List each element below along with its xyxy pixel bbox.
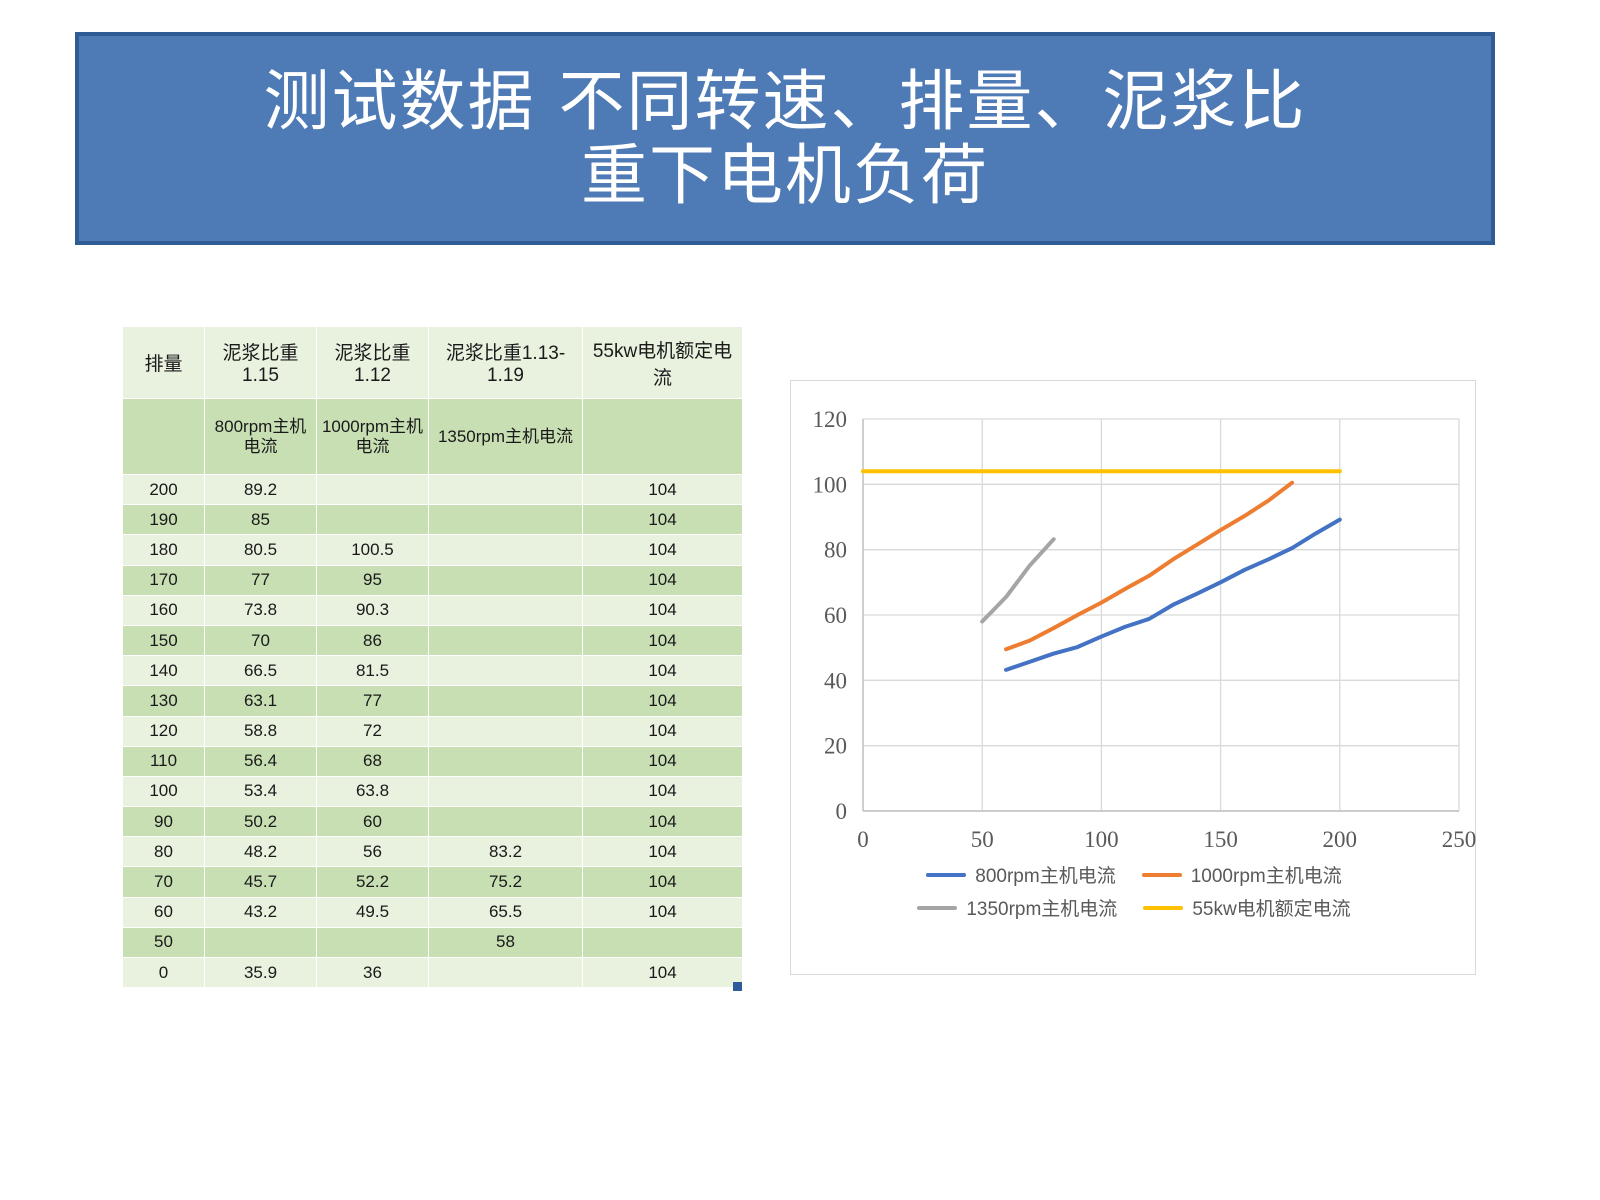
table-cell-r7-c2: 77	[317, 686, 429, 716]
legend-item-1[interactable]: 1000rpm主机电流	[1142, 861, 1342, 888]
table-row: 19085104	[123, 505, 743, 535]
table-header-cell-4: 55kw电机额定电流	[583, 327, 743, 399]
table-cell-r12-c3: 83.2	[429, 837, 583, 867]
table-cell-r1-c1: 85	[205, 505, 317, 535]
table-row: 13063.177104	[123, 686, 743, 716]
table-cell-r14-c1: 43.2	[205, 897, 317, 927]
table-cell-r4-c0: 160	[123, 595, 205, 625]
table-cell-r10-c2: 63.8	[317, 776, 429, 806]
table-subheader-cell-3: 1350rpm主机电流	[429, 399, 583, 475]
table-cell-r13-c1: 45.7	[205, 867, 317, 897]
table-body: 20089.21041908510418080.5100.51041707795…	[123, 475, 743, 988]
table-cell-r0-c4: 104	[583, 475, 743, 505]
table-cell-r4-c3	[429, 595, 583, 625]
table-cell-r3-c1: 77	[205, 565, 317, 595]
table-row: 1707795104	[123, 565, 743, 595]
table-cell-r15-c1	[205, 927, 317, 957]
table-cell-r15-c4	[583, 927, 743, 957]
table-cell-r11-c0: 90	[123, 807, 205, 837]
chart-container[interactable]: 020406080100120050100150200250 800rpm主机电…	[790, 380, 1476, 975]
table-subheader-cell-4	[583, 399, 743, 475]
table-cell-r10-c1: 53.4	[205, 776, 317, 806]
y-axis-tick-label: 40	[824, 668, 847, 693]
table-header-row-primary: 排量泥浆比重1.15泥浆比重1.12泥浆比重1.13-1.1955kw电机额定电…	[123, 327, 743, 399]
table-row: 12058.872104	[123, 716, 743, 746]
table-cell-r16-c0: 0	[123, 958, 205, 988]
table-row: 1507086104	[123, 625, 743, 655]
table-cell-r12-c1: 48.2	[205, 837, 317, 867]
table-cell-r14-c2: 49.5	[317, 897, 429, 927]
table-cell-r2-c1: 80.5	[205, 535, 317, 565]
table-row: 5058	[123, 927, 743, 957]
table-cell-r16-c1: 35.9	[205, 958, 317, 988]
table-row: 8048.25683.2104	[123, 837, 743, 867]
table-cell-r6-c2: 81.5	[317, 656, 429, 686]
table-header-row-secondary: 800rpm主机电流1000rpm主机电流1350rpm主机电流	[123, 399, 743, 475]
table-cell-r6-c0: 140	[123, 656, 205, 686]
table-header-cell-0: 排量	[123, 327, 205, 399]
table-cell-r8-c4: 104	[583, 716, 743, 746]
x-axis-tick-label: 50	[971, 827, 994, 851]
chart-legend: 800rpm主机电流1000rpm主机电流1350rpm主机电流55kw电机额定…	[791, 849, 1477, 921]
table-header-cell-1: 泥浆比重1.15	[205, 327, 317, 399]
legend-swatch-icon	[917, 906, 957, 910]
x-axis-tick-label: 200	[1323, 827, 1358, 851]
table-cell-r10-c0: 100	[123, 776, 205, 806]
table-cell-r2-c2: 100.5	[317, 535, 429, 565]
table-row: 10053.463.8104	[123, 776, 743, 806]
table-header-cell-3: 泥浆比重1.13-1.19	[429, 327, 583, 399]
legend-item-0[interactable]: 800rpm主机电流	[926, 861, 1115, 888]
legend-label: 800rpm主机电流	[975, 861, 1115, 888]
table-cell-r0-c0: 200	[123, 475, 205, 505]
table-cell-r0-c2	[317, 475, 429, 505]
test-data-table: 排量泥浆比重1.15泥浆比重1.12泥浆比重1.13-1.1955kw电机额定电…	[122, 326, 743, 988]
table-subheader-cell-1: 800rpm主机电流	[205, 399, 317, 475]
table-cell-r6-c4: 104	[583, 656, 743, 686]
table-row: 14066.581.5104	[123, 656, 743, 686]
table-cell-r6-c3	[429, 656, 583, 686]
table-cell-r0-c1: 89.2	[205, 475, 317, 505]
table-cell-r13-c2: 52.2	[317, 867, 429, 897]
table-cell-r16-c3	[429, 958, 583, 988]
table-cell-r13-c3: 75.2	[429, 867, 583, 897]
table-cell-r11-c1: 50.2	[205, 807, 317, 837]
table-cell-r1-c4: 104	[583, 505, 743, 535]
table-row: 7045.752.275.2104	[123, 867, 743, 897]
table-cell-r3-c4: 104	[583, 565, 743, 595]
table-cell-r9-c2: 68	[317, 746, 429, 776]
table-cell-r7-c0: 130	[123, 686, 205, 716]
legend-item-2[interactable]: 1350rpm主机电流	[917, 894, 1117, 921]
page-title: 测试数据 不同转速、排量、泥浆比 重下电机负荷	[250, 65, 1321, 213]
table-cell-r3-c3	[429, 565, 583, 595]
table-cell-r7-c3	[429, 686, 583, 716]
slide-title-banner: 测试数据 不同转速、排量、泥浆比 重下电机负荷	[75, 32, 1495, 245]
legend-swatch-icon	[926, 873, 966, 877]
table-cell-r5-c0: 150	[123, 625, 205, 655]
table-cell-r1-c0: 190	[123, 505, 205, 535]
table-cell-r4-c4: 104	[583, 595, 743, 625]
data-table-container: 排量泥浆比重1.15泥浆比重1.12泥浆比重1.13-1.1955kw电机额定电…	[122, 326, 742, 988]
table-cell-r12-c4: 104	[583, 837, 743, 867]
table-cell-r10-c4: 104	[583, 776, 743, 806]
x-axis-tick-label: 0	[857, 827, 869, 851]
table-cell-r11-c3	[429, 807, 583, 837]
table-cell-r8-c3	[429, 716, 583, 746]
table-cell-r10-c3	[429, 776, 583, 806]
table-row: 9050.260104	[123, 807, 743, 837]
table-cell-r9-c4: 104	[583, 746, 743, 776]
x-axis-tick-label: 250	[1442, 827, 1477, 851]
table-cell-r8-c2: 72	[317, 716, 429, 746]
table-cell-r9-c1: 56.4	[205, 746, 317, 776]
table-row: 11056.468104	[123, 746, 743, 776]
table-subheader-cell-0	[123, 399, 205, 475]
table-cell-r8-c0: 120	[123, 716, 205, 746]
table-cell-r13-c0: 70	[123, 867, 205, 897]
legend-row: 1350rpm主机电流55kw电机额定电流	[851, 894, 1417, 921]
table-cell-r4-c2: 90.3	[317, 595, 429, 625]
y-axis-tick-label: 100	[813, 472, 848, 497]
table-cell-r16-c4: 104	[583, 958, 743, 988]
table-cell-r13-c4: 104	[583, 867, 743, 897]
table-cell-r11-c4: 104	[583, 807, 743, 837]
table-cell-r1-c3	[429, 505, 583, 535]
table-cell-r1-c2	[317, 505, 429, 535]
table-cell-r2-c4: 104	[583, 535, 743, 565]
table-cell-r15-c3: 58	[429, 927, 583, 957]
x-axis-tick-label: 100	[1084, 827, 1119, 851]
table-cell-r3-c2: 95	[317, 565, 429, 595]
selection-handle[interactable]	[733, 982, 742, 991]
table-cell-r14-c0: 60	[123, 897, 205, 927]
legend-item-3[interactable]: 55kw电机额定电流	[1143, 894, 1350, 921]
table-cell-r2-c3	[429, 535, 583, 565]
table-subheader-cell-2: 1000rpm主机电流	[317, 399, 429, 475]
x-axis-tick-label: 150	[1203, 827, 1238, 851]
table-cell-r16-c2: 36	[317, 958, 429, 988]
table-cell-r14-c3: 65.5	[429, 897, 583, 927]
legend-row: 800rpm主机电流1000rpm主机电流	[851, 861, 1417, 888]
table-cell-r3-c0: 170	[123, 565, 205, 595]
table-header-cell-2: 泥浆比重1.12	[317, 327, 429, 399]
legend-label: 1350rpm主机电流	[966, 894, 1117, 921]
table-cell-r8-c1: 58.8	[205, 716, 317, 746]
table-cell-r12-c2: 56	[317, 837, 429, 867]
table-cell-r7-c1: 63.1	[205, 686, 317, 716]
legend-label: 1000rpm主机电流	[1191, 861, 1342, 888]
legend-swatch-icon	[1143, 906, 1183, 910]
y-axis-tick-label: 20	[824, 734, 847, 759]
table-cell-r12-c0: 80	[123, 837, 205, 867]
table-cell-r5-c4: 104	[583, 625, 743, 655]
table-cell-r9-c3	[429, 746, 583, 776]
line-chart: 020406080100120050100150200250	[791, 381, 1477, 851]
y-axis-tick-label: 80	[824, 538, 847, 563]
table-cell-r15-c2	[317, 927, 429, 957]
table-cell-r11-c2: 60	[317, 807, 429, 837]
table-row: 16073.890.3104	[123, 595, 743, 625]
legend-label: 55kw电机额定电流	[1192, 894, 1350, 921]
table-cell-r14-c4: 104	[583, 897, 743, 927]
table-cell-r7-c4: 104	[583, 686, 743, 716]
table-head: 排量泥浆比重1.15泥浆比重1.12泥浆比重1.13-1.1955kw电机额定电…	[123, 327, 743, 475]
y-axis-tick-label: 0	[836, 799, 848, 824]
table-cell-r9-c0: 110	[123, 746, 205, 776]
table-cell-r5-c3	[429, 625, 583, 655]
table-cell-r6-c1: 66.5	[205, 656, 317, 686]
table-row: 20089.2104	[123, 475, 743, 505]
table-cell-r5-c1: 70	[205, 625, 317, 655]
table-cell-r15-c0: 50	[123, 927, 205, 957]
y-axis-tick-label: 120	[813, 407, 848, 432]
table-cell-r5-c2: 86	[317, 625, 429, 655]
table-cell-r4-c1: 73.8	[205, 595, 317, 625]
legend-swatch-icon	[1142, 873, 1182, 877]
y-axis-tick-label: 60	[824, 603, 847, 628]
table-row: 035.936104	[123, 958, 743, 988]
table-row: 6043.249.565.5104	[123, 897, 743, 927]
table-row: 18080.5100.5104	[123, 535, 743, 565]
table-cell-r2-c0: 180	[123, 535, 205, 565]
table-cell-r0-c3	[429, 475, 583, 505]
